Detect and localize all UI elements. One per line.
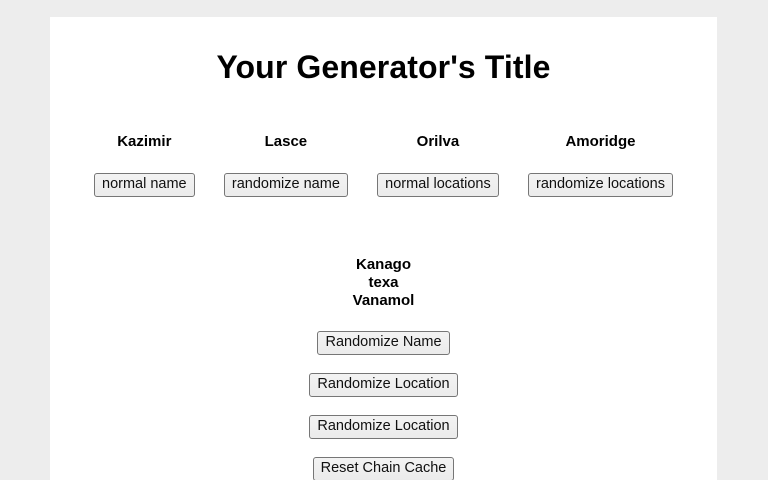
- generator-column-lasce: Lasce randomize name: [224, 133, 348, 197]
- chain-output-line-3: Vanamol: [50, 292, 717, 310]
- chain-randomize-location-button-1[interactable]: Randomize Location: [309, 373, 457, 397]
- chain-actions: Randomize Name Randomize Location Random…: [50, 331, 717, 480]
- chain-output-line-1: Kanago: [50, 256, 717, 274]
- chain-section: Kanago texa Vanamol Randomize Name Rando…: [50, 256, 717, 480]
- generator-heading-amoridge: Amoridge: [565, 133, 635, 151]
- normal-name-button[interactable]: normal name: [94, 173, 195, 197]
- generator-heading-kazimir: Kazimir: [117, 133, 171, 151]
- generator-row: Kazimir normal name Lasce randomize name…: [50, 133, 717, 197]
- randomize-locations-button[interactable]: randomize locations: [528, 173, 673, 197]
- chain-randomize-location-button-2[interactable]: Randomize Location: [309, 415, 457, 439]
- chain-output: Kanago texa Vanamol: [50, 256, 717, 310]
- chain-randomize-name-button[interactable]: Randomize Name: [317, 331, 449, 355]
- generator-heading-orilva: Orilva: [417, 133, 460, 151]
- generator-column-orilva: Orilva normal locations: [377, 133, 499, 197]
- page-title: Your Generator's Title: [50, 17, 717, 86]
- generator-column-kazimir: Kazimir normal name: [94, 133, 195, 197]
- generator-heading-lasce: Lasce: [265, 133, 308, 151]
- generator-column-amoridge: Amoridge randomize locations: [528, 133, 673, 197]
- normal-locations-button[interactable]: normal locations: [377, 173, 499, 197]
- randomize-name-button[interactable]: randomize name: [224, 173, 348, 197]
- chain-output-line-2: texa: [50, 274, 717, 292]
- page-card: Your Generator's Title Kazimir normal na…: [50, 17, 717, 480]
- reset-chain-cache-button[interactable]: Reset Chain Cache: [313, 457, 455, 480]
